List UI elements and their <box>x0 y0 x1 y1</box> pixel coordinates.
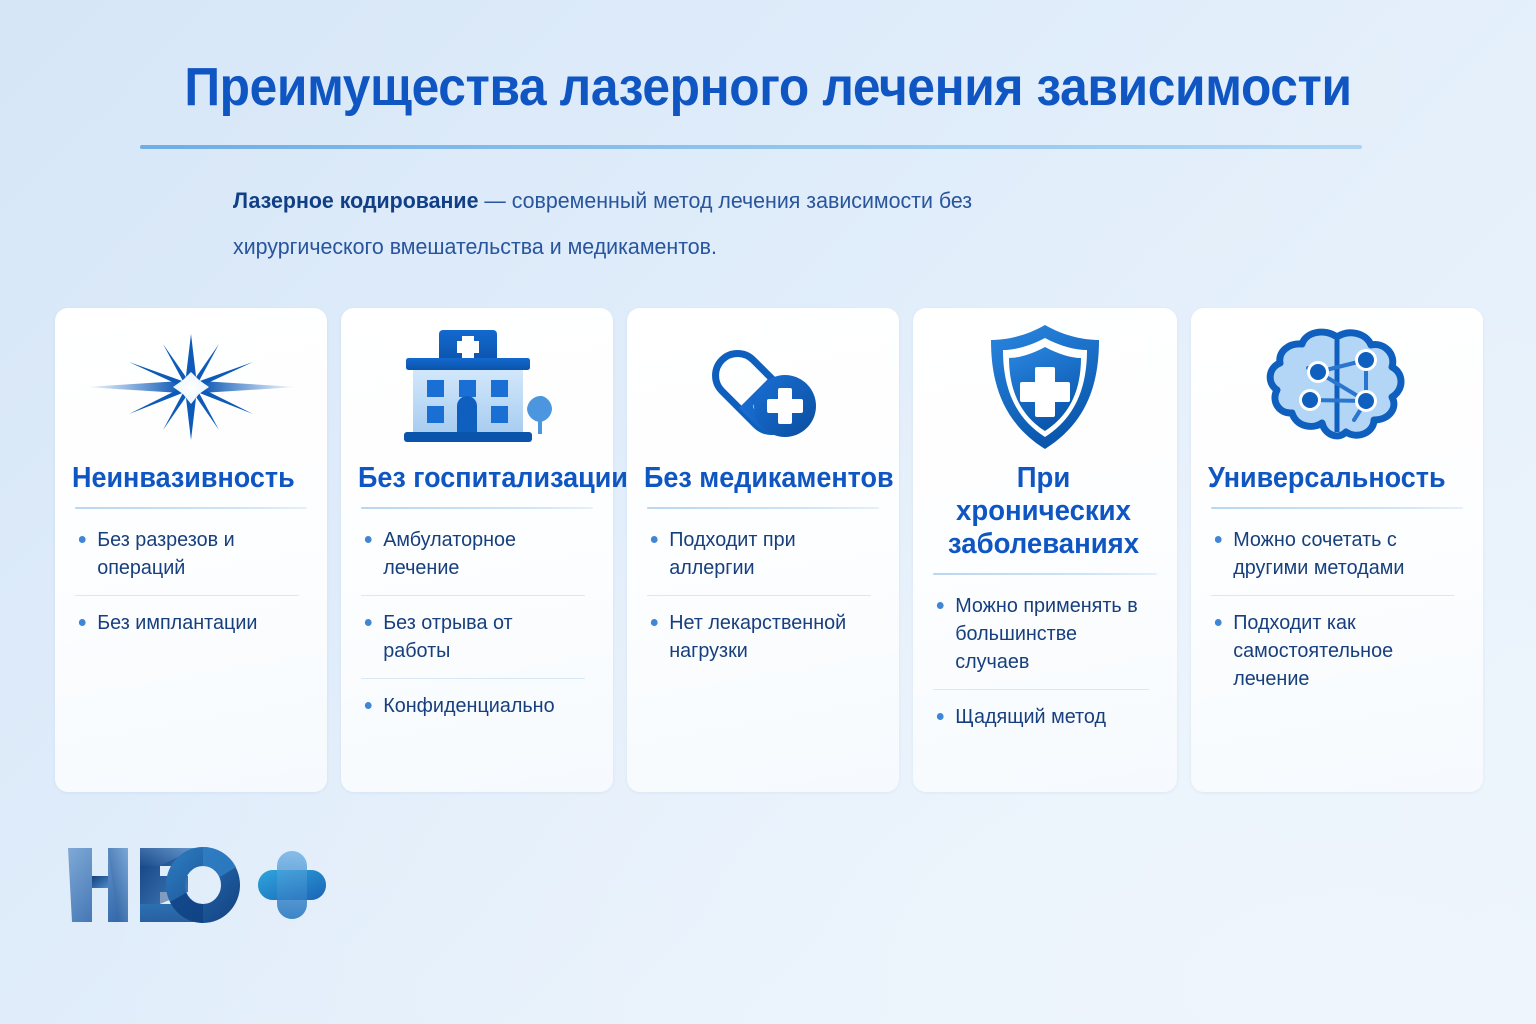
list-item: Щадящий метод <box>933 690 1149 744</box>
list-item: Амбулаторное лечение <box>361 513 585 596</box>
list-item: Конфиденциально <box>361 679 585 733</box>
laser-starburst-icon <box>75 312 307 462</box>
hospital-building-icon <box>361 312 593 462</box>
benefit-list: Можно сочетать с другими методами Подход… <box>1211 513 1463 706</box>
list-item: Без разрезов и операций <box>75 513 299 596</box>
card-title: При хронических заболеваниях <box>936 462 1152 561</box>
list-item: Подходит как самостоятельное лечение <box>1211 596 1454 706</box>
list-item: Подходит при аллергии <box>647 513 871 596</box>
infographic-canvas: Преимущества лазерного лечения зависимос… <box>0 0 1536 1024</box>
list-item: Можно сочетать с другими методами <box>1211 513 1454 596</box>
card-title: Без медикаментов <box>644 462 863 495</box>
subtitle-lead: Лазерное кодирование <box>233 188 478 213</box>
title-divider <box>140 145 1362 149</box>
benefit-list: Подходит при аллергии Нет лекарственной … <box>647 513 879 678</box>
card-title-divider <box>933 573 1157 575</box>
benefit-card-universality[interactable]: Универсальность Можно сочетать с другими… <box>1191 308 1483 792</box>
list-item: Можно применять в большинстве случаев <box>933 579 1149 690</box>
list-item: Без имплантации <box>75 596 299 650</box>
card-title-divider <box>1211 507 1463 509</box>
subtitle: Лазерное кодирование — современный метод… <box>233 178 1126 270</box>
list-item: Без отрыва от работы <box>361 596 585 679</box>
card-title-divider <box>75 507 307 509</box>
pills-capsule-icon <box>647 312 879 462</box>
page-title: Преимущества лазерного лечения зависимос… <box>61 56 1474 118</box>
benefit-list: Амбулаторное лечение Без отрыва от работ… <box>361 513 593 733</box>
card-title: Универсальность <box>1208 462 1445 495</box>
shield-cross-icon <box>933 312 1157 462</box>
card-title: Неинвазивность <box>72 462 291 495</box>
benefit-list: Без разрезов и операций Без имплантации <box>75 513 307 650</box>
benefit-list: Можно применять в большинстве случаев Ща… <box>933 579 1157 744</box>
list-item: Нет лекарственной нагрузки <box>647 596 871 678</box>
benefit-card-noninvasive[interactable]: Неинвазивность Без разрезов и операций Б… <box>55 308 327 792</box>
benefit-card-no-medication[interactable]: Без медикаментов Подходит при аллергии Н… <box>627 308 899 792</box>
card-title-divider <box>647 507 879 509</box>
benefit-cards-row: Неинвазивность Без разрезов и операций Б… <box>55 308 1483 792</box>
benefit-card-no-hospitalization[interactable]: Без госпитализации Амбулаторное лечение … <box>341 308 613 792</box>
brain-network-icon <box>1211 312 1463 462</box>
card-title-divider <box>361 507 593 509</box>
card-title: Без госпитализации <box>358 462 577 495</box>
neo-plus-logo[interactable]: НЕО+ <box>62 840 332 932</box>
benefit-card-chronic-conditions[interactable]: При хронических заболеваниях Можно приме… <box>913 308 1177 792</box>
